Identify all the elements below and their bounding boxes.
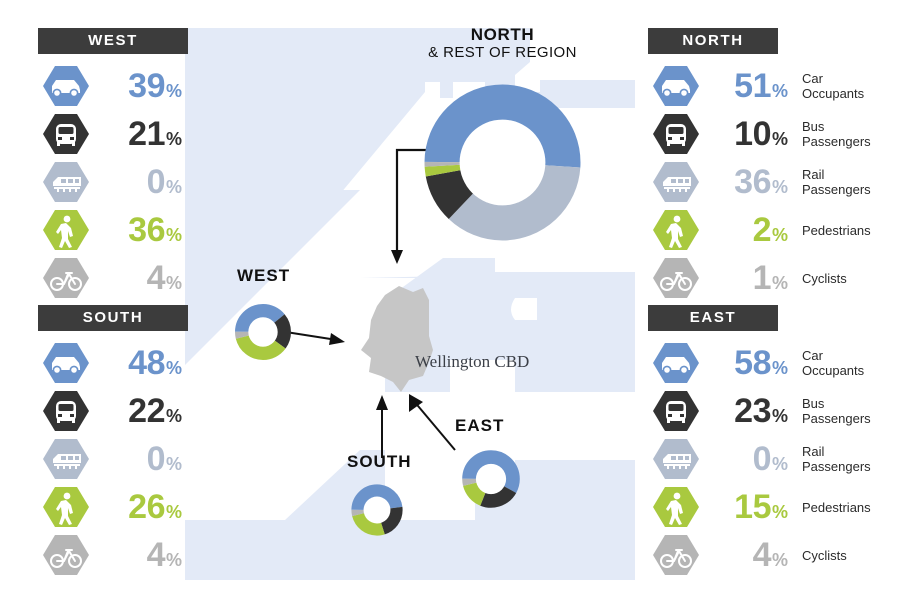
stat-value-rail: 0%: [704, 442, 788, 476]
legend-car: Car Occupants: [802, 348, 864, 378]
panel-south-title: SOUTH: [38, 305, 188, 331]
pedestrian-icon: [38, 483, 94, 531]
stat-row-pedestrian[interactable]: 26%: [38, 483, 188, 531]
percent-symbol: %: [772, 407, 788, 425]
stat-row-car[interactable]: 51% Car Occupants: [648, 62, 888, 110]
donut-west: [228, 297, 298, 372]
stat-value-cyclist: 1%: [704, 261, 788, 295]
stat-value-car: 51%: [704, 69, 788, 103]
stat-number: 21: [128, 117, 165, 151]
arrow-east: [409, 394, 455, 450]
north-title-line1: NORTH: [400, 25, 605, 44]
stat-number: 4: [147, 261, 165, 295]
legend-pedestrian: Pedestrians: [802, 223, 871, 238]
stat-number: 0: [147, 165, 165, 199]
stat-row-cyclist[interactable]: 4% Cyclists: [648, 531, 888, 579]
train-icon: [38, 158, 94, 206]
percent-symbol: %: [166, 226, 182, 244]
legend-car: Car Occupants: [802, 71, 864, 101]
legend-line1: Cyclists: [802, 271, 847, 286]
infographic-canvas: NORTH & REST OF REGION WEST SOUTH: [0, 0, 900, 600]
legend-line1: Bus: [802, 119, 871, 134]
legend-line2: Passengers: [802, 459, 871, 474]
legend-line2: Passengers: [802, 411, 871, 426]
legend-line1: Pedestrians: [802, 500, 871, 515]
stat-row-bus[interactable]: 10% Bus Passengers: [648, 110, 888, 158]
stat-number: 23: [734, 394, 771, 428]
legend-rail: Rail Passengers: [802, 167, 871, 197]
stat-number: 0: [753, 442, 771, 476]
stat-number: 58: [734, 346, 771, 380]
stat-value-car: 58%: [704, 346, 788, 380]
stat-row-car[interactable]: 39%: [38, 62, 188, 110]
stat-row-cyclist[interactable]: 4%: [38, 531, 188, 579]
panel-west: WEST 39%: [38, 28, 188, 302]
donut-south-hole: [364, 497, 391, 524]
pedestrian-icon: [648, 483, 704, 531]
panel-north-rows: 51% Car Occupants 10%: [648, 62, 888, 302]
stat-row-car[interactable]: 48%: [38, 339, 188, 387]
legend-line1: Rail: [802, 167, 871, 182]
car-icon: [38, 339, 94, 387]
stat-row-pedestrian[interactable]: 2% Pedestrians: [648, 206, 888, 254]
legend-line1: Car: [802, 348, 864, 363]
bus-icon: [38, 110, 94, 158]
donut-east-hole: [476, 464, 506, 494]
stat-number: 39: [128, 69, 165, 103]
percent-symbol: %: [166, 178, 182, 196]
stat-value-rail: 0%: [94, 442, 182, 476]
stat-number: 36: [734, 165, 771, 199]
stat-value-pedestrian: 36%: [94, 213, 182, 247]
cbd-shape: [361, 286, 433, 392]
stat-number: 51: [734, 69, 771, 103]
panel-west-rows: 39% 21%: [38, 62, 188, 302]
car-icon: [648, 339, 704, 387]
stat-number: 1: [753, 261, 771, 295]
arrow-south: [376, 395, 388, 458]
bicycle-icon: [648, 531, 704, 579]
stat-row-bus[interactable]: 22%: [38, 387, 188, 435]
panel-south: SOUTH 48%: [38, 305, 188, 579]
stat-row-cyclist[interactable]: 4%: [38, 254, 188, 302]
stat-number: 2: [753, 213, 771, 247]
stat-row-rail[interactable]: 0%: [38, 158, 188, 206]
donut-north: [405, 65, 600, 265]
panel-north: NORTH 51% Car Occupants: [648, 28, 888, 302]
legend-line1: Rail: [802, 444, 871, 459]
percent-symbol: %: [772, 274, 788, 292]
panel-south-rows: 48% 22%: [38, 339, 188, 579]
percent-symbol: %: [772, 130, 788, 148]
north-title-line2: & REST OF REGION: [400, 44, 605, 62]
north-donut-title: NORTH & REST OF REGION: [400, 25, 605, 62]
percent-symbol: %: [166, 82, 182, 100]
stat-row-pedestrian[interactable]: 15% Pedestrians: [648, 483, 888, 531]
stat-value-rail: 36%: [704, 165, 788, 199]
panel-east-title: EAST: [648, 305, 778, 331]
stat-number: 48: [128, 346, 165, 380]
percent-symbol: %: [772, 455, 788, 473]
car-icon: [648, 62, 704, 110]
donut-south: [345, 478, 409, 547]
legend-line2: Occupants: [802, 86, 864, 101]
stat-value-pedestrian: 2%: [704, 213, 788, 247]
train-icon: [38, 435, 94, 483]
stat-value-bus: 23%: [704, 394, 788, 428]
legend-cyclist: Cyclists: [802, 271, 847, 286]
percent-symbol: %: [166, 503, 182, 521]
train-icon: [648, 435, 704, 483]
percent-symbol: %: [772, 359, 788, 377]
donut-east: [455, 443, 527, 520]
percent-symbol: %: [166, 455, 182, 473]
stat-number: 4: [753, 538, 771, 572]
stat-row-rail[interactable]: 0%: [38, 435, 188, 483]
stat-value-cyclist: 4%: [94, 261, 182, 295]
legend-line2: Occupants: [802, 363, 864, 378]
donut-south-label: SOUTH: [347, 452, 412, 472]
stat-number: 10: [734, 117, 771, 151]
panel-west-title: WEST: [38, 28, 188, 54]
legend-cyclist: Cyclists: [802, 548, 847, 563]
donut-west-label: WEST: [237, 266, 290, 286]
panel-north-title: NORTH: [648, 28, 778, 54]
stat-value-rail: 0%: [94, 165, 182, 199]
stat-value-car: 48%: [94, 346, 182, 380]
stat-number: 15: [734, 490, 771, 524]
legend-line1: Pedestrians: [802, 223, 871, 238]
donut-north-hole: [460, 120, 546, 206]
legend-line2: Passengers: [802, 182, 871, 197]
legend-line2: Passengers: [802, 134, 871, 149]
legend-line1: Bus: [802, 396, 871, 411]
stat-value-bus: 22%: [94, 394, 182, 428]
train-icon: [648, 158, 704, 206]
legend-pedestrian: Pedestrians: [802, 500, 871, 515]
legend-line1: Cyclists: [802, 548, 847, 563]
percent-symbol: %: [772, 551, 788, 569]
stat-value-cyclist: 4%: [94, 538, 182, 572]
legend-line1: Car: [802, 71, 864, 86]
stat-value-bus: 21%: [94, 117, 182, 151]
percent-symbol: %: [166, 551, 182, 569]
legend-rail: Rail Passengers: [802, 444, 871, 474]
stat-value-pedestrian: 26%: [94, 490, 182, 524]
stat-number: 36: [128, 213, 165, 247]
legend-bus: Bus Passengers: [802, 119, 871, 149]
stat-value-bus: 10%: [704, 117, 788, 151]
stat-value-car: 39%: [94, 69, 182, 103]
stat-row-bus[interactable]: 23% Bus Passengers: [648, 387, 888, 435]
bicycle-icon: [38, 254, 94, 302]
percent-symbol: %: [772, 178, 788, 196]
bicycle-icon: [38, 531, 94, 579]
stat-row-pedestrian[interactable]: 36%: [38, 206, 188, 254]
percent-symbol: %: [772, 503, 788, 521]
bus-icon: [648, 387, 704, 435]
stat-value-cyclist: 4%: [704, 538, 788, 572]
stat-row-cyclist[interactable]: 1% Cyclists: [648, 254, 888, 302]
bus-icon: [648, 110, 704, 158]
percent-symbol: %: [166, 359, 182, 377]
legend-bus: Bus Passengers: [802, 396, 871, 426]
map-harbour-inlet: [511, 298, 537, 320]
stat-row-car[interactable]: 58% Car Occupants: [648, 339, 888, 387]
bus-icon: [38, 387, 94, 435]
pedestrian-icon: [648, 206, 704, 254]
panel-east-rows: 58% Car Occupants 23%: [648, 339, 888, 579]
percent-symbol: %: [772, 82, 788, 100]
pedestrian-icon: [38, 206, 94, 254]
bicycle-icon: [648, 254, 704, 302]
percent-symbol: %: [166, 274, 182, 292]
stat-row-rail[interactable]: 0% Rail Passengers: [648, 435, 888, 483]
stat-number: 0: [147, 442, 165, 476]
stat-row-bus[interactable]: 21%: [38, 110, 188, 158]
percent-symbol: %: [772, 226, 788, 244]
stat-number: 26: [128, 490, 165, 524]
stat-number: 4: [147, 538, 165, 572]
stat-number: 22: [128, 394, 165, 428]
panel-east: EAST 58% Car Occupants: [648, 305, 888, 579]
stat-value-pedestrian: 15%: [704, 490, 788, 524]
percent-symbol: %: [166, 407, 182, 425]
car-icon: [38, 62, 94, 110]
cbd-label: Wellington CBD: [415, 352, 529, 372]
donut-west-hole: [248, 317, 277, 346]
stat-row-rail[interactable]: 36% Rail Passengers: [648, 158, 888, 206]
percent-symbol: %: [166, 130, 182, 148]
donut-east-label: EAST: [455, 416, 504, 436]
